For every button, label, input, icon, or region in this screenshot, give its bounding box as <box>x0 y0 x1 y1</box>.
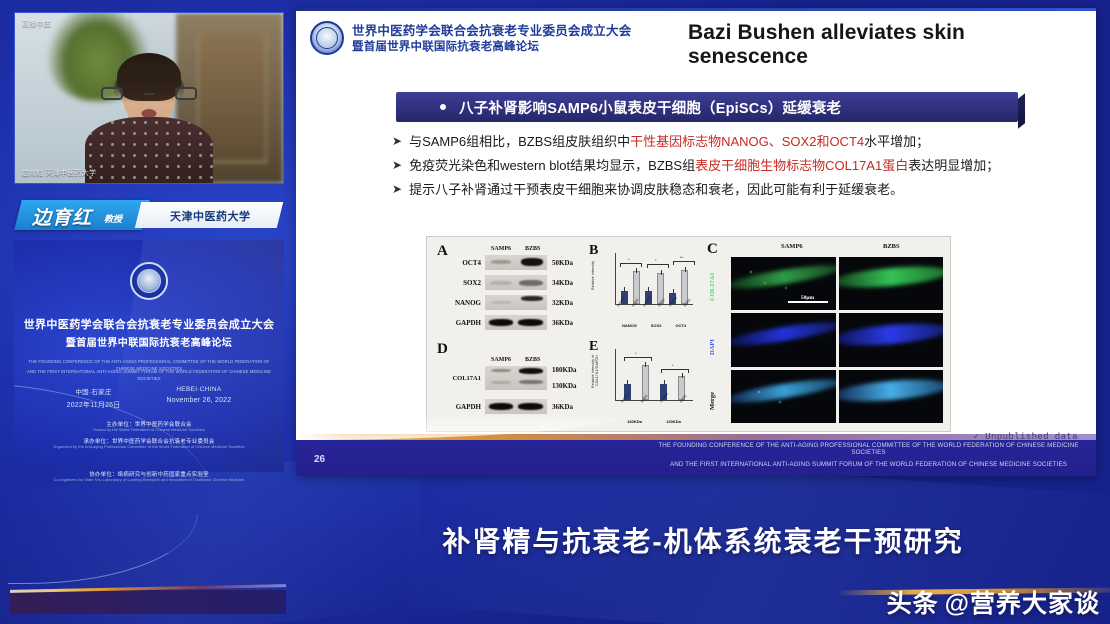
wfcms-emblem-icon <box>130 262 168 300</box>
panel-e-groups: 180KDa 130KDa <box>615 419 693 424</box>
if-image-col17a1-bzbs <box>839 257 944 310</box>
blot-label: GAPDH <box>433 403 485 411</box>
panel-d-lane-0: SAMP6 <box>491 357 511 363</box>
figure-panel-b: B Relative Intensity * * <box>589 241 697 335</box>
blot-row-col17a1: COL17A1 180KDa 130KDa <box>433 366 577 390</box>
slide-header-cn-line2: 暨首届世界中联国际抗衰老高峰论坛 <box>352 38 539 54</box>
panel-e-x-ticks: SAMP6 BZBS SAMP6 BZBS <box>615 401 693 405</box>
speaker-figure <box>74 53 224 183</box>
blot-mw: 50KDa <box>547 259 573 267</box>
panel-a-lane-1: BZBS <box>525 246 540 252</box>
blot-mw: 34KDa <box>547 279 573 287</box>
panel-d-lane-1: BZBS <box>525 357 540 363</box>
watermark-brand: 头条 <box>887 584 939 620</box>
speaker-organization: 天津中医药大学 <box>170 208 251 224</box>
bullet-1-part-1: 表皮干细胞生物标志物COL17A1蛋白 <box>695 158 908 173</box>
slide-footer-line1: THE FOUNDING CONFERENCE OF THE ANTI-AGIN… <box>651 442 1086 456</box>
broadcast-logo: 直播中国 <box>22 19 51 29</box>
panel-b-x-ticks: SAMP6 BZBS SAMP6 BZBS SAMP6 BZBS <box>615 305 693 309</box>
panel-a-lane-0: SAMP6 <box>491 246 511 252</box>
blot-gel <box>485 399 547 414</box>
figure-panel-a: A SAMP6 BZBS OCT4 50KDa SOX2 <box>433 241 583 337</box>
if-image-merge-bzbs <box>839 370 944 423</box>
blot-mw: 180KDa <box>547 366 577 374</box>
speaker-video-feed[interactable]: 直播中国 边育红 天津中医药大学 <box>14 12 284 184</box>
blot-label: OCT4 <box>433 259 485 267</box>
slide-bullet-list: ➤ 与SAMP6组相比，BZBS组皮肤组织中干性基因标志物NANOG、SOX2和… <box>392 132 1076 204</box>
speaker-torso <box>85 117 213 183</box>
blot-mw: 36KDa <box>547 319 573 327</box>
speaker-glasses-right <box>175 87 197 100</box>
slide-footer-line2: AND THE FIRST INTERNATIONAL ANTI-AGING S… <box>651 461 1086 468</box>
blot-mw: 32KDa <box>547 299 573 307</box>
slide-section-band: 八子补肾影响SAMP6小鼠表皮干细胞（EpiSCs）延缓衰老 <box>396 92 1018 122</box>
group-label: 130KDa <box>666 419 681 424</box>
panel-b-groups: NANOG SOX2 OCT4 <box>615 323 693 328</box>
figure-panel-c: C SAMP6 BZBS COL17A1 DAPI Merge 50μm <box>705 241 945 431</box>
video-caption: 边育红 天津中医药大学 <box>22 168 96 178</box>
slide-page-number: 26 <box>314 454 325 465</box>
watermark-handle: @营养大家谈 <box>945 584 1100 620</box>
panel-b-sig-1: * <box>655 258 657 263</box>
arrow-right-icon: ➤ <box>392 156 402 175</box>
panel-c-image-grid: 50μm <box>731 257 943 423</box>
if-image-merge-samp6 <box>731 370 836 423</box>
panel-c-label: C <box>707 241 718 258</box>
bullet-0-part-0: 与SAMP6组相比，BZBS组皮肤组织中 <box>409 134 630 149</box>
poster-organizer-2-cn: 协办单位：络病研究与创新中药国家重点实验室 <box>14 470 284 478</box>
panel-b-sig-2: ** <box>680 255 683 260</box>
blot-mw: 130KDa <box>547 382 577 390</box>
bullet-0-part-1: 干性基因标志物NANOG、SOX2和OCT4 <box>630 134 864 149</box>
blot-gel <box>485 255 547 270</box>
panel-c-row-merge: Merge <box>709 377 727 425</box>
bullet-text-0: 与SAMP6组相比，BZBS组皮肤组织中干性基因标志物NANOG、SOX2和OC… <box>409 132 929 151</box>
slide-english-title: Bazi Bushen alleviates skin senescence <box>688 21 1084 69</box>
poster-title-line1: 世界中医药学会联合会抗衰老专业委员会成立大会 <box>14 316 284 332</box>
panel-e-y-axis-label: Relative Intensity of COL17A1/GAPDH <box>591 343 601 399</box>
blot-label: GAPDH <box>433 319 485 327</box>
blot-label: COL17A1 <box>433 375 485 382</box>
panel-e-sig-0: * <box>635 351 637 356</box>
panel-b-y-axis-label: Relative Intensity <box>591 247 601 303</box>
blot-gel <box>485 366 547 390</box>
panel-b-sig-0: * <box>628 257 630 262</box>
blot-gel <box>485 315 547 330</box>
panel-d-label: D <box>437 341 448 358</box>
panel-c-row-dapi: DAPI <box>709 319 727 375</box>
group-label: SOX2 <box>651 323 662 328</box>
bullet-1-part-0: 免疫荧光染色和western blot结果均显示，BZBS组 <box>409 158 695 173</box>
poster-title-line2: 暨首届世界中联国际抗衰老高峰论坛 <box>14 334 284 349</box>
left-arc-decor <box>8 514 198 584</box>
blot-mw: 36KDa <box>547 403 573 411</box>
if-image-dapi-samp6 <box>731 313 836 366</box>
arrow-right-icon: ➤ <box>392 180 402 199</box>
slide-section-title: 八子补肾影响SAMP6小鼠表皮干细胞（EpiSCs）延缓衰老 <box>459 97 841 118</box>
bottom-title-banner: 补肾精与抗衰老-机体系统衰老干预研究 头条 @营养大家谈 <box>296 480 1110 624</box>
poster-organizer-1-en: Organized by the Anti-aging Professional… <box>26 445 272 449</box>
blot-mw-stack: 180KDa 130KDa <box>547 366 577 390</box>
scale-bar-line <box>788 301 828 303</box>
list-item: ➤ 免疫荧光染色和western blot结果均显示，BZBS组表皮干细胞生物标… <box>392 156 1076 175</box>
poster-english-line2: AND THE FIRST INTERNATIONAL ANTI-AGING S… <box>26 368 272 382</box>
list-item: ➤ 与SAMP6组相比，BZBS组皮肤组织中干性基因标志物NANOG、SOX2和… <box>392 132 1076 151</box>
blot-label: SOX2 <box>433 279 485 287</box>
bullet-1-part-2: 表达明显增加； <box>908 158 999 173</box>
slide-header-cn-line1: 世界中医药学会联合会抗衰老专业委员会成立大会 <box>352 20 631 39</box>
arrow-right-icon: ➤ <box>392 132 402 151</box>
blot-row-oct4: OCT4 50KDa <box>433 255 573 270</box>
speaker-nameplate: 边育红 教授 天津中医药大学 <box>18 200 280 230</box>
left-bottom-band <box>10 590 286 614</box>
poster-organizers: 主办单位：世界中医药学会联合会 Hosted by the World Fede… <box>26 420 272 454</box>
bullet-text-1: 免疫荧光染色和western blot结果均显示，BZBS组表皮干细胞生物标志物… <box>409 156 999 175</box>
slide-header: 世界中医药学会联合会抗衰老专业委员会成立大会 暨首届世界中联国际抗衰老高峰论坛 … <box>296 13 1096 65</box>
presentation-slide: 世界中医药学会联合会抗衰老专业委员会成立大会 暨首届世界中联国际抗衰老高峰论坛 … <box>296 8 1096 476</box>
speaker-glasses-bridge <box>144 93 154 95</box>
panel-c-col-1: BZBS <box>883 243 900 250</box>
blot-gel <box>485 295 547 310</box>
blot-row-gapdh-a: GAPDH 36KDa <box>433 315 573 330</box>
emblem-inner-ring <box>316 27 338 49</box>
panel-c-row-col17a1: COL17A1 <box>709 259 727 315</box>
group-label: 180KDa <box>627 419 642 424</box>
group-label: OCT4 <box>675 323 686 328</box>
screenshot-root: 直播中国 边育红 天津中医药大学 边育红 教授 天津中医药大学 世界中医药学会联… <box>0 0 1110 624</box>
if-image-dapi-bzbs <box>839 313 944 366</box>
blot-gel <box>485 275 547 290</box>
slide-footer: 26 THE FOUNDING CONFERENCE OF THE ANTI-A… <box>296 440 1096 476</box>
bullet-0-part-2: 水平增加； <box>864 134 929 149</box>
poster-organizer-2-en: Co-organized by State Key Laboratory of … <box>14 478 284 482</box>
poster-date-cn: 中国·石家庄 2022年11月26日 <box>67 386 121 410</box>
left-column: 直播中国 边育红 天津中医药大学 边育红 教授 天津中医药大学 世界中医药学会联… <box>0 0 296 624</box>
emblem-inner-ring <box>137 269 161 293</box>
speaker-academic-title: 教授 <box>104 212 122 225</box>
blot-label: NANOG <box>433 299 485 307</box>
wfcms-emblem-icon <box>310 21 344 55</box>
blot-row-sox2: SOX2 34KDa <box>433 275 573 290</box>
panel-c-col-0: SAMP6 <box>781 243 803 250</box>
slide-top-rule <box>296 8 1096 11</box>
list-item: ➤ 提示八子补肾通过干预表皮干细胞来协调皮肤稳态和衰老，因此可能有利于延缓衰老。 <box>392 180 1076 199</box>
poster-date-en-location: HEBEI·CHINA <box>166 386 231 393</box>
poster-date-cn-location: 中国·石家庄 <box>67 386 121 396</box>
blot-row-nanog: NANOG 32KDa <box>433 295 573 310</box>
poster-date-en-value: November 26, 2022 <box>166 397 231 404</box>
poster-organizer-1-cn: 承办单位：世界中医药学会联合会抗衰老专业委员会 <box>26 437 272 445</box>
poster-date-en: HEBEI·CHINA November 26, 2022 <box>166 386 231 410</box>
speaker-name: 边育红 <box>32 203 92 230</box>
conference-poster-card: 世界中医药学会联合会抗衰老专业委员会成立大会 暨首届世界中联国际抗衰老高峰论坛 … <box>14 240 284 472</box>
poster-organizer-0-en: Hosted by the World Federation of Chines… <box>26 428 272 432</box>
panel-e-sig-1: * <box>672 363 674 368</box>
if-image-col17a1-samp6: 50μm <box>731 257 836 310</box>
poster-date-cn-value: 2022年11月26日 <box>67 400 121 410</box>
watermark: 头条 @营养大家谈 <box>887 584 1100 620</box>
bullet-dot-icon <box>440 104 446 110</box>
figure-composite: A SAMP6 BZBS OCT4 50KDa SOX2 <box>426 236 951 432</box>
speaker-glasses-left <box>101 87 123 100</box>
bullet-text-2: 提示八子补肾通过干预表皮干细胞来协调皮肤稳态和衰老，因此可能有利于延缓衰老。 <box>409 180 903 199</box>
poster-dates: 中国·石家庄 2022年11月26日 HEBEI·CHINA November … <box>14 386 284 410</box>
group-label: NANOG <box>622 323 637 328</box>
scale-bar: 50μm <box>788 295 828 303</box>
blot-row-gapdh-d: GAPDH 36KDa <box>433 399 573 414</box>
poster-organizer-0-cn: 主办单位：世界中医药学会联合会 <box>26 420 272 428</box>
banner-title: 补肾精与抗衰老-机体系统衰老干预研究 <box>296 520 1110 560</box>
